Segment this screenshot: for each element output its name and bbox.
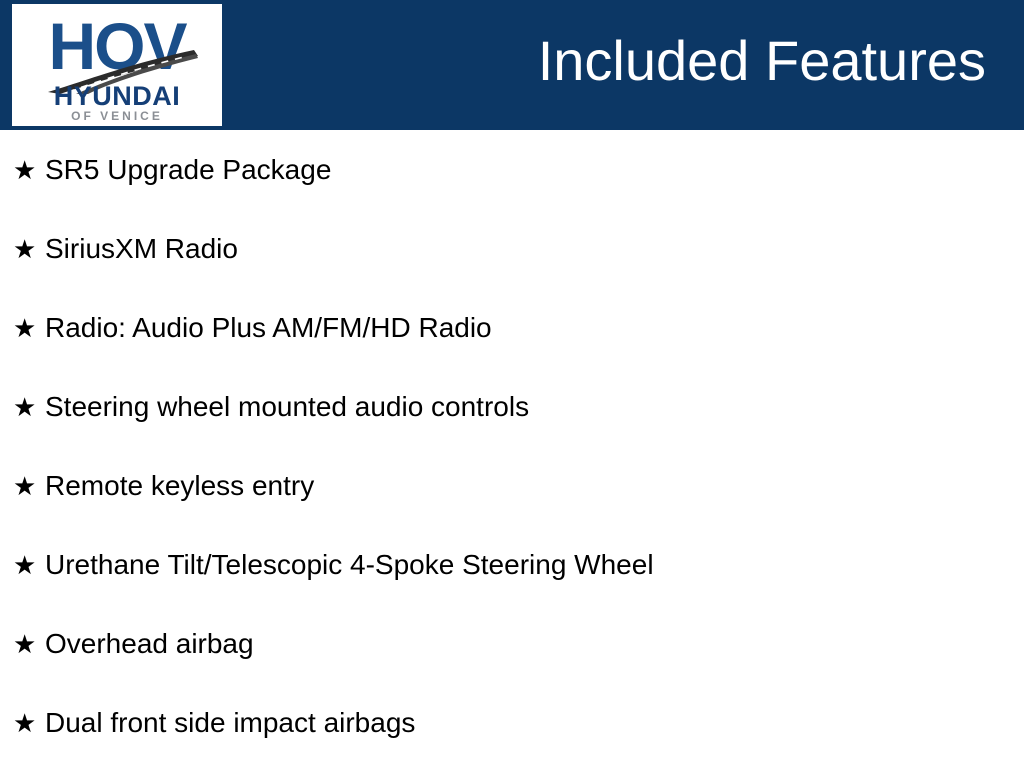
star-icon: ★ (13, 473, 36, 499)
logo-location-text: OF VENICE (12, 110, 222, 123)
star-icon: ★ (13, 710, 36, 736)
list-item: ★ Dual front side impact airbags (0, 683, 1024, 762)
list-item-label: SR5 Upgrade Package (45, 154, 331, 186)
logo-primary-text: HOV (12, 10, 222, 82)
star-icon: ★ (13, 236, 36, 262)
star-icon: ★ (13, 394, 36, 420)
list-item-label: Overhead airbag (45, 628, 254, 660)
list-item-label: Urethane Tilt/Telescopic 4-Spoke Steerin… (45, 549, 654, 581)
dealer-logo: HOV HYUNDAI OF VENICE (12, 4, 222, 126)
star-icon: ★ (13, 552, 36, 578)
list-item: ★ Radio: Audio Plus AM/FM/HD Radio (0, 288, 1024, 367)
list-item-label: Remote keyless entry (45, 470, 314, 502)
list-item: ★ SR5 Upgrade Package (0, 130, 1024, 209)
list-item: ★ Overhead airbag (0, 604, 1024, 683)
header-bar: HOV HYUNDAI OF VENICE Included Features (0, 0, 1024, 130)
list-item-label: Steering wheel mounted audio controls (45, 391, 529, 423)
star-icon: ★ (13, 315, 36, 341)
list-item-label: Radio: Audio Plus AM/FM/HD Radio (45, 312, 492, 344)
star-icon: ★ (13, 631, 36, 657)
logo-inner: HOV HYUNDAI OF VENICE (12, 4, 222, 126)
list-item: ★ SiriusXM Radio (0, 209, 1024, 288)
star-icon: ★ (13, 157, 36, 183)
feature-list: ★ SR5 Upgrade Package ★ SiriusXM Radio ★… (0, 130, 1024, 762)
list-item-label: SiriusXM Radio (45, 233, 238, 265)
list-item: ★ Steering wheel mounted audio controls (0, 367, 1024, 446)
list-item: ★ Remote keyless entry (0, 446, 1024, 525)
list-item-label: Dual front side impact airbags (45, 707, 415, 739)
logo-brand-text: HYUNDAI (12, 82, 222, 111)
page-title: Included Features (538, 28, 986, 94)
list-item: ★ Urethane Tilt/Telescopic 4-Spoke Steer… (0, 525, 1024, 604)
slide: HOV HYUNDAI OF VENICE Included Features … (0, 0, 1024, 768)
